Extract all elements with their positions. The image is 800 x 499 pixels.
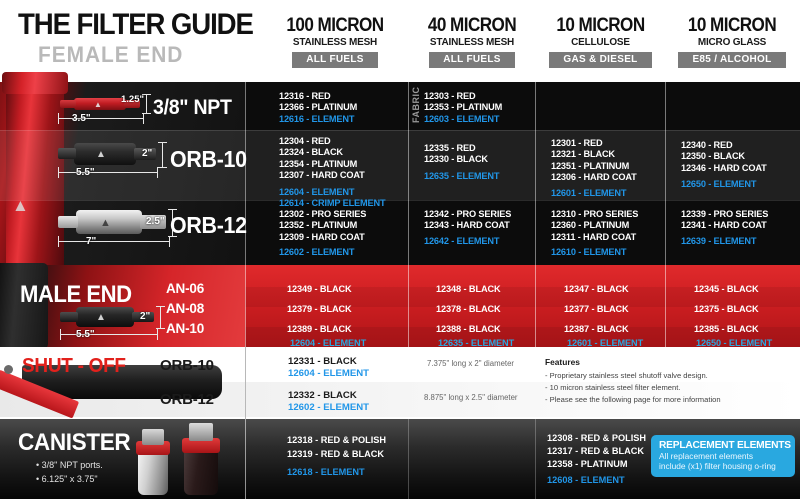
column-divider-1 xyxy=(408,82,409,265)
canister-column-divider-2 xyxy=(535,419,536,499)
badge-line: All replacement elements xyxy=(659,451,788,461)
row-label-an06: AN-06 xyxy=(166,281,204,296)
male-column-divider-1 xyxy=(408,265,409,347)
cell-orb10-100micron: 12304 - RED 12324 - BLACK 12354 - PLATIN… xyxy=(279,136,385,209)
dimension-text-npt-diameter: 1.25" xyxy=(121,94,144,105)
dimension-text-orb10-diameter: 2" xyxy=(142,148,152,159)
column-header-100-micron: 100 MICRON STAINLESS MESH ALL FUELS xyxy=(262,16,408,68)
cell-an10-10microglass: 12385 - BLACK xyxy=(694,324,759,334)
fuel-badge: ALL FUELS xyxy=(292,52,378,68)
male-column-divider-2 xyxy=(535,265,536,347)
male-column-divider-left xyxy=(245,265,246,347)
feature-item: - Proprietary stainless steel shutoff va… xyxy=(545,371,708,380)
fuel-badge: ALL FUELS xyxy=(429,52,515,68)
canister-column-divider-1 xyxy=(408,419,409,499)
feature-item: - 10 micron stainless steel filter eleme… xyxy=(545,383,680,392)
canister-element-10cellulose: 12608 - ELEMENT xyxy=(547,475,625,485)
cell-orb10-40micron: 12335 - RED 12330 - BLACK 12635 - ELEMEN… xyxy=(424,143,499,182)
canister-title: CANISTER xyxy=(18,429,130,457)
cell-an08-10cellulose: 12377 - BLACK xyxy=(564,304,629,314)
cell-an06-40micron: 12348 - BLACK xyxy=(436,284,501,294)
column-header-40-micron: 40 MICRON STAINLESS MESH ALL FUELS xyxy=(409,16,535,68)
row-separator xyxy=(0,200,800,201)
dimension-callout-male-diameter xyxy=(156,306,166,329)
row-label-orb10: ORB-10 xyxy=(170,146,247,173)
canister-photo-black xyxy=(176,423,226,495)
cell-an08-100micron: 12379 - BLACK xyxy=(287,304,352,314)
cell-an06-10cellulose: 12347 - BLACK xyxy=(564,284,629,294)
shutoff-element-orb12: 12602 - ELEMENT xyxy=(288,402,369,413)
dimension-text-orb12-length: 7" xyxy=(86,236,96,247)
page-header: THE FILTER GUIDE FEMALE END 100 MICRON S… xyxy=(0,0,800,82)
canister-photo-polish xyxy=(130,429,176,495)
page-subtitle: FEMALE END xyxy=(38,42,183,68)
dimension-text-npt-length: 3.5" xyxy=(72,113,91,124)
dimension-text-male-length: 5.5" xyxy=(76,329,95,340)
column-divider-2 xyxy=(535,82,536,265)
shutoff-title: SHUT - OFF xyxy=(22,355,126,378)
row-band-orb10 xyxy=(0,130,800,200)
filter-guide-page: THE FILTER GUIDE FEMALE END 100 MICRON S… xyxy=(0,0,800,499)
cell-orb10-10microglass: 12340 - RED 12350 - BLACK 12346 - HARD C… xyxy=(681,140,767,191)
dimension-callout-orb10-diameter xyxy=(158,142,168,168)
canister-pn-10cellulose-2: 12317 - RED & BLACK xyxy=(547,446,644,456)
cell-an10-40micron: 12388 - BLACK xyxy=(436,324,501,334)
male-end-section: MALE END ▲ 5.5" 2" AN-06 xyxy=(0,265,800,347)
cell-npt-100micron: 12316 - RED 12366 - PLATINUM 12616 - ELE… xyxy=(279,91,357,125)
shutoff-pn-orb10: 12331 - BLACK xyxy=(288,356,357,367)
cell-orb12-100micron: 12302 - PRO SERIES 12352 - PLATINUM 1230… xyxy=(279,209,366,259)
shutoff-pn-orb12: 12332 - BLACK xyxy=(288,390,357,401)
column-header-10-micron-micro-glass: 10 MICRON MICRO GLASS E85 / ALCOHOL xyxy=(666,16,798,68)
canister-pn-100micron-2: 12319 - RED & BLACK xyxy=(287,449,384,459)
badge-line: include (x1) filter housing o-ring xyxy=(659,461,788,471)
row-label-orb12: ORB-12 xyxy=(170,212,247,239)
shutoff-pivot-icon xyxy=(4,365,13,374)
cell-an08-40micron: 12378 - BLACK xyxy=(436,304,501,314)
male-column-divider-3 xyxy=(665,265,666,347)
cell-orb12-40micron: 12342 - PRO SERIES 12343 - HARD COAT 126… xyxy=(424,209,511,247)
shutoff-section: SHUT - OFF ORB-10 ORB-12 12331 - BLACK 1… xyxy=(0,347,800,419)
row-label-an08: AN-08 xyxy=(166,301,204,316)
canister-pn-10cellulose-3: 12358 - PLATINUM xyxy=(547,459,628,469)
badge-title: REPLACEMENT ELEMENTS xyxy=(659,440,788,451)
dimension-callout-npt-length xyxy=(56,112,146,124)
canister-column-divider-left xyxy=(245,419,246,499)
canister-section: CANISTER • 3/8" NPT ports. • 6.125" x 3.… xyxy=(0,419,800,499)
canister-element-100micron: 12618 - ELEMENT xyxy=(287,467,365,477)
cell-orb12-10cellulose: 12310 - PRO SERIES 12360 - PLATINUM 1231… xyxy=(551,209,638,259)
dimension-callout-orb10-length xyxy=(56,166,162,178)
shutoff-row-label-orb10: ORB-10 xyxy=(160,357,214,374)
canister-pn-10cellulose-1: 12308 - RED & POLISH xyxy=(547,433,646,443)
cell-an06-10microglass: 12345 - BLACK xyxy=(694,284,759,294)
shutoff-element-orb10: 12604 - ELEMENT xyxy=(288,368,369,379)
row-label-npt: 3/8" NPT xyxy=(153,96,232,120)
fuel-badge: GAS & DIESEL xyxy=(549,52,651,68)
shutoff-dim-orb12: 8.875" long x 2.5" diameter xyxy=(424,393,518,402)
canister-bullet: • 6.125" x 3.75" xyxy=(36,474,98,484)
shutoff-column-divider xyxy=(245,347,246,419)
cell-orb10-10cellulose: 12301 - RED 12321 - BLACK 12351 - PLATIN… xyxy=(551,138,637,199)
fuel-badge: E85 / ALCOHOL xyxy=(678,52,785,68)
cell-an08-10microglass: 12375 - BLACK xyxy=(694,304,759,314)
cell-an10-10cellulose: 12387 - BLACK xyxy=(564,324,629,334)
canister-pn-100micron-1: 12318 - RED & POLISH xyxy=(287,435,386,445)
cell-an10-100micron: 12389 - BLACK xyxy=(287,324,352,334)
cell-npt-40micron: 12303 - RED 12353 - PLATINUM 12603 - ELE… xyxy=(424,91,502,125)
fabric-tag: FABRIC xyxy=(411,91,421,123)
features-title: Features xyxy=(545,357,580,367)
dimension-callout-male-length xyxy=(58,328,162,340)
dimension-text-male-diameter: 2" xyxy=(140,311,150,322)
column-divider-3 xyxy=(665,82,666,265)
dimension-text-orb12-diameter: 2.5" xyxy=(146,216,165,227)
cell-an06-100micron: 12349 - BLACK xyxy=(287,284,352,294)
row-label-an10: AN-10 xyxy=(166,321,204,336)
dimension-text-orb10-length: 5.5" xyxy=(76,167,95,178)
canister-bullet: • 3/8" NPT ports. xyxy=(36,460,103,470)
dimension-callout-orb12-length xyxy=(56,235,174,247)
male-left-panel: MALE END ▲ 5.5" 2" xyxy=(0,265,245,347)
column-header-10-micron-cellulose: 10 MICRON CELLULOSE GAS & DIESEL xyxy=(536,16,665,68)
male-end-title: MALE END xyxy=(20,281,132,309)
cell-orb12-10microglass: 12339 - PRO SERIES 12341 - HARD COAT 126… xyxy=(681,209,768,247)
feature-item: - Please see the following page for more… xyxy=(545,395,721,404)
row-separator xyxy=(0,130,800,131)
shutoff-dim-orb10: 7.375" long x 2" diameter xyxy=(427,359,514,368)
replacement-elements-badge: REPLACEMENT ELEMENTS All replacement ele… xyxy=(651,435,795,477)
shutoff-row-label-orb12: ORB-12 xyxy=(160,391,214,408)
page-title: THE FILTER GUIDE xyxy=(18,8,253,42)
